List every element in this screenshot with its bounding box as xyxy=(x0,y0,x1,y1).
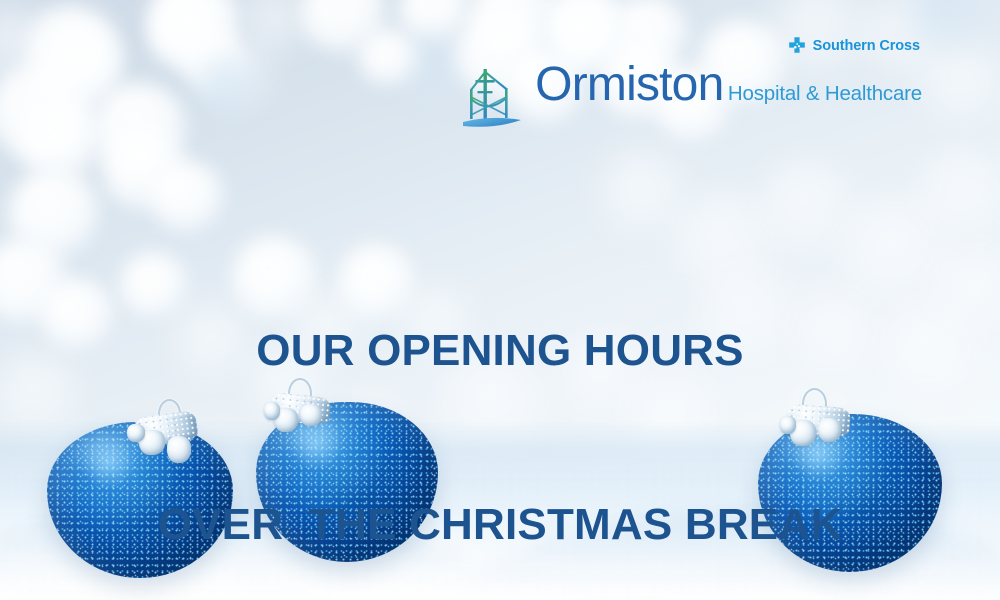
christmas-hours-banner: Southern Cross xyxy=(0,0,1000,600)
ormiston-name: Ormiston xyxy=(535,58,723,111)
ormiston-tagline: Hospital & Healthcare xyxy=(728,82,922,105)
southern-cross-lockup[interactable]: Southern Cross xyxy=(461,36,920,56)
bridge-icon xyxy=(461,65,523,131)
headline-line-2: OVER THE CHRISTMAS BREAK xyxy=(0,496,1000,554)
bokeh-circle xyxy=(920,40,1000,124)
ormiston-wordmark-group: Ormiston Hospital & Healthcare xyxy=(535,61,922,109)
bokeh-circle xyxy=(196,56,260,118)
southern-cross-wordmark: Southern Cross xyxy=(813,38,920,54)
page-title: OUR OPENING HOURS OVER THE CHRISTMAS BRE… xyxy=(0,206,1000,600)
medical-cross-icon xyxy=(787,36,807,56)
logo-block: Southern Cross xyxy=(461,36,922,131)
ormiston-lockup[interactable]: Ormiston Hospital & Healthcare xyxy=(461,61,922,131)
bokeh-circle xyxy=(358,28,418,86)
headline-line-1: OUR OPENING HOURS xyxy=(0,322,1000,380)
